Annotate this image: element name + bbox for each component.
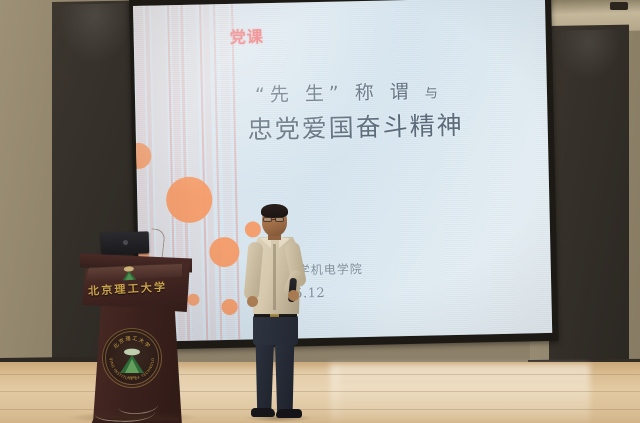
podium-shadow <box>68 412 198 423</box>
slide-title-line-1-suffix: 与 <box>425 86 440 101</box>
shoe-right <box>276 409 302 418</box>
hand-left <box>247 296 258 307</box>
photo-scene: 党课 “先 生” 称 谓 与 忠党爱国奋斗精神 伟 理工大学机电学院 19.05… <box>0 0 640 423</box>
glasses-bridge-icon <box>272 219 276 220</box>
floor-reflection-right <box>330 364 590 422</box>
ceiling-fixture-icon-2 <box>610 2 628 10</box>
panel-left-highlight <box>58 3 132 64</box>
leg-right <box>275 340 296 412</box>
glasses-lens-right-icon <box>275 217 284 222</box>
hair <box>261 204 288 218</box>
speaker <box>232 204 318 420</box>
shoe-left <box>251 408 275 417</box>
hand-right <box>288 290 299 301</box>
panel-right-highlight <box>556 29 622 80</box>
podium-crest-icon <box>118 263 141 281</box>
podium: 北京理工大学 北京理工大学 BEIJING INSTITUTE OF TECHN… <box>74 232 198 422</box>
leg-left <box>254 340 274 412</box>
shirt-placket <box>273 244 276 310</box>
glasses-lens-left-icon <box>263 217 272 222</box>
podium-emblem: 北京理工大学 BEIJING INSTITUTE OF TECHNOLOGY 1… <box>102 328 162 388</box>
screen-hotspot <box>133 0 426 202</box>
emblem-ring <box>105 331 159 385</box>
hips <box>253 315 298 345</box>
laptop-logo-icon <box>123 240 128 245</box>
